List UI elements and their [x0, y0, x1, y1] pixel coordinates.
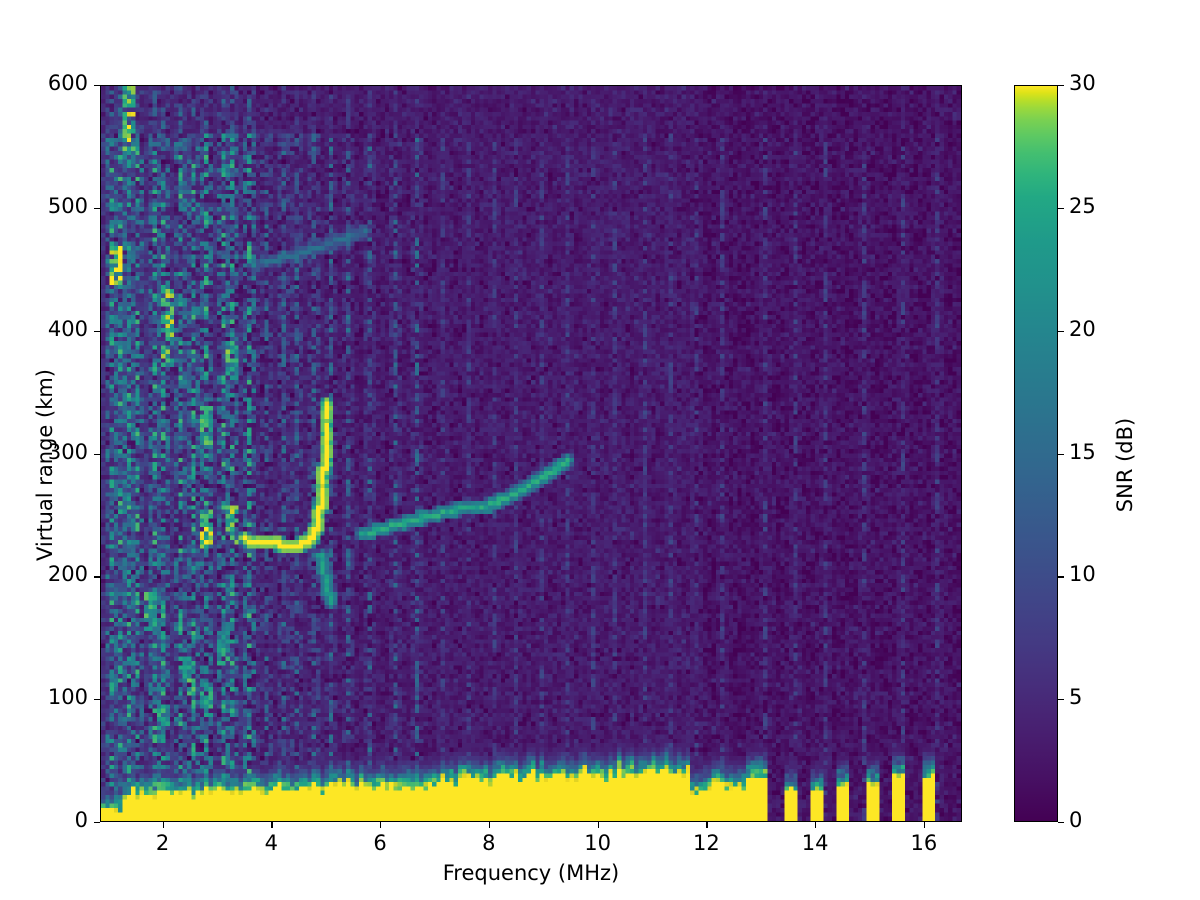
- x-tick: [598, 822, 599, 828]
- colorbar-tick-label: 15: [1069, 440, 1096, 464]
- y-axis-label: Virtual range (km): [33, 285, 57, 645]
- colorbar-tick: [1058, 85, 1064, 86]
- x-tick-label: 8: [454, 831, 524, 855]
- colorbar-tick: [1058, 454, 1064, 455]
- x-tick: [815, 822, 816, 828]
- colorbar-tick: [1058, 331, 1064, 332]
- y-tick-label: 600: [18, 71, 88, 95]
- colorbar-tick-label: 5: [1069, 685, 1082, 709]
- y-tick: [94, 822, 100, 823]
- colorbar-tick-label: 25: [1069, 194, 1096, 218]
- colorbar-tick: [1058, 208, 1064, 209]
- ionogram-heatmap: [101, 86, 961, 821]
- colorbar-label: SNR (dB): [1113, 315, 1137, 615]
- y-tick: [94, 576, 100, 577]
- x-tick-label: 10: [563, 831, 633, 855]
- colorbar-tick-label: 0: [1069, 808, 1082, 832]
- x-tick: [924, 822, 925, 828]
- x-tick: [489, 822, 490, 828]
- x-tick: [706, 822, 707, 828]
- colorbar-tick: [1058, 699, 1064, 700]
- x-tick-label: 4: [236, 831, 306, 855]
- x-tick-label: 6: [345, 831, 415, 855]
- y-tick: [94, 699, 100, 700]
- x-tick-label: 12: [671, 831, 741, 855]
- ionogram-axes: [100, 85, 962, 822]
- y-tick: [94, 454, 100, 455]
- y-tick-label: 500: [18, 194, 88, 218]
- x-tick-label: 14: [780, 831, 850, 855]
- colorbar: [1014, 85, 1058, 822]
- colorbar-tick: [1058, 576, 1064, 577]
- y-tick: [94, 331, 100, 332]
- y-tick: [94, 85, 100, 86]
- colorbar-tick: [1058, 822, 1064, 823]
- y-tick-label: 0: [18, 808, 88, 832]
- colorbar-tick-label: 30: [1069, 71, 1096, 95]
- x-tick-label: 16: [889, 831, 959, 855]
- x-tick-label: 2: [128, 831, 198, 855]
- x-axis-label: Frequency (MHz): [100, 861, 962, 885]
- x-tick: [163, 822, 164, 828]
- y-tick: [94, 208, 100, 209]
- y-tick-label: 100: [18, 685, 88, 709]
- x-tick: [271, 822, 272, 828]
- colorbar-tick-label: 10: [1069, 562, 1096, 586]
- figure-root: IRF Uppsala SDR Ionosonde UP158 2025-02-…: [0, 0, 1200, 900]
- x-tick: [380, 822, 381, 828]
- colorbar-tick-label: 20: [1069, 317, 1096, 341]
